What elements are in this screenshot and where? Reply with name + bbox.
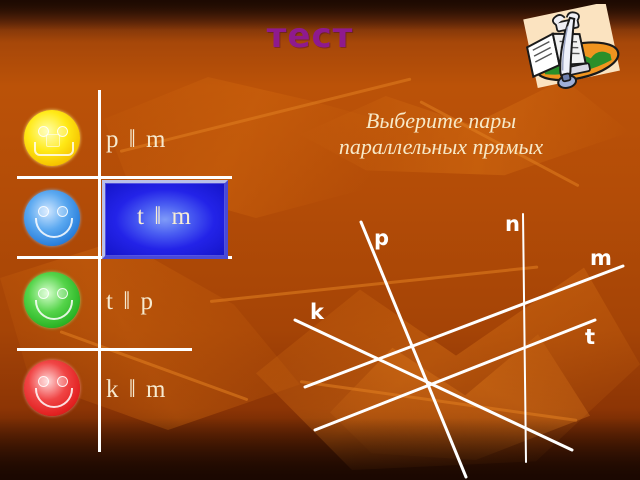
line-label-n: n	[505, 212, 520, 236]
mouth-icon	[35, 218, 73, 238]
answer-option-1[interactable]: p ‖ m	[106, 126, 226, 154]
geometry-line-t	[315, 320, 595, 430]
grid-divider-vertical	[98, 90, 101, 452]
answer-option-2-label: t ‖ m	[105, 203, 225, 231]
answer-option-3[interactable]: t ‖ p	[106, 288, 226, 316]
line-label-t: t	[585, 325, 595, 349]
eye-icon	[57, 376, 68, 387]
answer-option-2-selected[interactable]: t ‖ m	[102, 180, 228, 259]
eye-icon	[38, 288, 49, 299]
education-clipart-icon	[516, 4, 628, 90]
eye-icon	[57, 206, 68, 217]
answer-option-4[interactable]: k ‖ m	[106, 376, 226, 404]
eye-icon	[38, 206, 49, 217]
eye-icon	[38, 376, 49, 387]
line-label-k: k	[310, 300, 324, 324]
grid-divider-horizontal	[17, 176, 232, 179]
geometry-line-n	[523, 214, 526, 462]
line-label-p: p	[374, 226, 389, 250]
mouth-icon	[34, 142, 74, 156]
eye-icon	[57, 288, 68, 299]
red-smiley-icon[interactable]	[24, 360, 80, 416]
yellow-smiley-icon[interactable]	[24, 110, 80, 166]
blue-smiley-icon[interactable]	[24, 190, 80, 246]
grid-divider-horizontal	[17, 348, 192, 351]
mouth-icon	[35, 388, 73, 408]
geometry-line-p	[361, 222, 466, 477]
mouth-icon	[35, 300, 73, 320]
question-line-1: Выберите пары	[276, 108, 606, 134]
line-label-m: m	[590, 246, 612, 270]
green-smiley-icon[interactable]	[24, 272, 80, 328]
question-text: Выберите пары параллельных прямых	[276, 108, 606, 160]
question-line-2: параллельных прямых	[276, 134, 606, 160]
slide-canvas: тест	[0, 0, 640, 480]
